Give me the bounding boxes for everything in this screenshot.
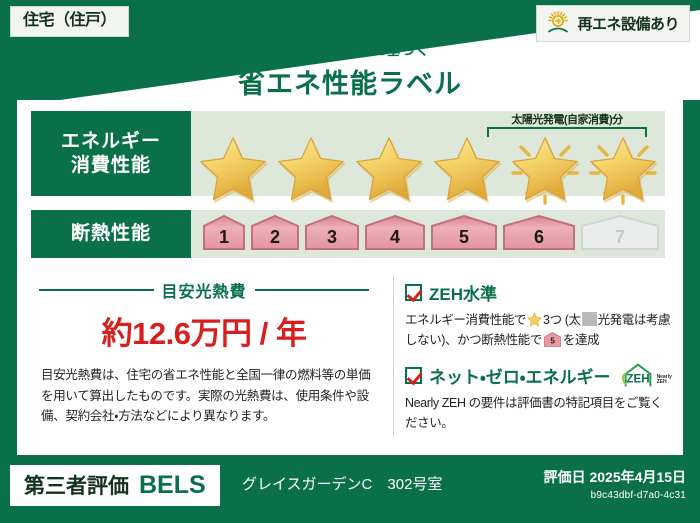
insulation-badge: 7 bbox=[579, 214, 661, 257]
pv-caption: 太陽光発電(自家消費)分 bbox=[477, 111, 657, 127]
vertical-divider bbox=[393, 276, 394, 436]
building-name: グレイスガーデンC 302号室 bbox=[242, 473, 442, 494]
claims-section: ZEH水準 エネルギー消費性能で3つ (太光発電は考慮しない)、かつ断熱性能で5… bbox=[405, 280, 673, 445]
claim-net-zero-energy: ネット・ゼロ・エネルギー ZEH Nearly ZEH Nearly ZE bbox=[405, 363, 673, 434]
house-badge-icon: 5 bbox=[544, 332, 561, 347]
star-rating bbox=[195, 133, 661, 193]
heading-rule-right bbox=[255, 289, 370, 291]
bels-jp-label: 第三者評価 bbox=[24, 470, 129, 500]
insulation-rating-panel: 1 2 3 4 bbox=[191, 210, 665, 258]
insulation-badge-list: 1 2 3 4 bbox=[201, 214, 661, 257]
energy-label-line2: 消費性能 bbox=[71, 154, 151, 178]
star-pv bbox=[507, 133, 583, 193]
claim-text-part1: エネルギー消費性能で bbox=[405, 313, 526, 327]
insulation-performance-row: 断熱性能 1 2 bbox=[31, 210, 665, 258]
energy-performance-label: エネルギー 消費性能 bbox=[31, 111, 191, 196]
redacted-block bbox=[582, 312, 597, 326]
utility-cost-heading: 目安光熱費 bbox=[39, 278, 369, 302]
insulation-badge-inline: 5 bbox=[544, 332, 561, 347]
star-icon bbox=[195, 133, 271, 205]
energy-performance-label: 住宅（住戸） 再エネ設備あり 建築物省エネ法に基づく 省エネ性能ラベル bbox=[0, 0, 700, 523]
svg-text:1: 1 bbox=[219, 227, 229, 247]
zeh-nearly-sublabel: Nearly ZEH bbox=[657, 375, 672, 388]
claim-zeh-standard-title: ZEH水準 bbox=[429, 280, 497, 305]
star-filled bbox=[273, 133, 349, 193]
svg-text:7: 7 bbox=[615, 227, 625, 247]
house-badge-icon: 2 bbox=[249, 214, 301, 252]
svg-text:3: 3 bbox=[327, 227, 337, 247]
star-icon bbox=[429, 133, 505, 205]
house-badge-icon: 5 bbox=[429, 214, 499, 252]
star-icon bbox=[273, 133, 349, 205]
insulation-label-text: 断熱性能 bbox=[71, 222, 151, 246]
footer: 第三者評価 BELS グレイスガーデンC 302号室 評価日 2025年4月15… bbox=[0, 455, 700, 523]
renewable-equipment-tag: 再エネ設備あり bbox=[536, 5, 690, 42]
svg-text:5: 5 bbox=[459, 227, 469, 247]
claim-net-zero-head: ネット・ゼロ・エネルギー ZEH Nearly ZEH bbox=[405, 363, 673, 388]
claim-zeh-standard-body: エネルギー消費性能で3つ (太光発電は考慮しない)、かつ断熱性能で5を達成 bbox=[405, 310, 673, 351]
star-icon bbox=[507, 133, 583, 205]
evaluation-id: b9c43dbf-d7a0-4c31 bbox=[544, 490, 686, 501]
star-icon bbox=[527, 312, 542, 327]
bels-en-label: BELS bbox=[139, 471, 206, 500]
utility-cost-note: 目安光熱費は、住宅の省エネ性能と全国一律の燃料等の単価を用いて算出したものです。… bbox=[41, 365, 377, 427]
star-pv bbox=[585, 133, 661, 193]
insulation-badge: 2 bbox=[249, 214, 301, 257]
star-filled bbox=[351, 133, 427, 193]
claim-zeh-standard: ZEH水準 エネルギー消費性能で3つ (太光発電は考慮しない)、かつ断熱性能で5… bbox=[405, 280, 673, 351]
svg-text:2: 2 bbox=[270, 227, 280, 247]
zeh-nearly-line2: ZEH bbox=[657, 379, 667, 385]
house-badge-icon: 6 bbox=[501, 214, 577, 252]
utility-cost-value: 約12.6万円 / 年 bbox=[39, 308, 369, 353]
claim-zeh-standard-head: ZEH水準 bbox=[405, 280, 673, 305]
energy-rating-panel: 太陽光発電(自家消費)分 bbox=[191, 111, 665, 196]
star-filled bbox=[429, 133, 505, 193]
insulation-badge: 3 bbox=[303, 214, 361, 257]
check-icon bbox=[405, 367, 422, 384]
insulation-badge: 6 bbox=[501, 214, 577, 257]
insulation-badge: 4 bbox=[363, 214, 427, 257]
renewable-tag-label: 再エネ設備あり bbox=[577, 13, 679, 34]
claim-net-zero-body: Nearly ZEH の要件は評価書の特記項目をご覧ください。 bbox=[405, 393, 673, 434]
house-badge-icon: 3 bbox=[303, 214, 361, 252]
star-icon bbox=[351, 133, 427, 205]
star-icon bbox=[585, 133, 661, 205]
house-badge-icon: 1 bbox=[201, 214, 247, 252]
energy-performance-row: エネルギー 消費性能 太陽光発電(自家消費)分 bbox=[31, 111, 665, 196]
star-filled bbox=[195, 133, 271, 193]
check-icon bbox=[405, 284, 422, 301]
svg-text:ZEH: ZEH bbox=[626, 373, 649, 385]
insulation-badge: 5 bbox=[429, 214, 499, 257]
page-title: 省エネ性能ラベル bbox=[0, 62, 700, 101]
zeh-house-logo: ZEH Nearly ZEH bbox=[621, 363, 672, 388]
insulation-performance-label: 断熱性能 bbox=[31, 210, 191, 258]
claim-net-zero-title: ネット・ゼロ・エネルギー bbox=[429, 363, 611, 388]
bels-certification-box: 第三者評価 BELS bbox=[10, 465, 220, 506]
svg-text:4: 4 bbox=[390, 227, 400, 247]
energy-label-line1: エネルギー bbox=[61, 130, 161, 154]
title-block: 建築物省エネ法に基づく 省エネ性能ラベル bbox=[0, 40, 700, 101]
utility-cost-block: 目安光熱費 約12.6万円 / 年 bbox=[39, 278, 369, 353]
house-badge-icon: 4 bbox=[363, 214, 427, 252]
svg-text:6: 6 bbox=[534, 227, 544, 247]
house-badge-icon: 7 bbox=[579, 214, 661, 252]
insulation-badge: 1 bbox=[201, 214, 247, 257]
footer-meta: 評価日 2025年4月15日 b9c43dbf-d7a0-4c31 bbox=[544, 467, 686, 501]
claim-text-part2: 3つ (太 bbox=[543, 313, 581, 327]
claim-text-part4: を達成 bbox=[563, 333, 599, 347]
zeh-logo-icon: ZEH bbox=[621, 363, 655, 388]
main-card: エネルギー 消費性能 太陽光発電(自家消費)分 bbox=[17, 100, 683, 455]
evaluation-date: 評価日 2025年4月15日 bbox=[544, 467, 686, 487]
title-subtitle: 建築物省エネ法に基づく bbox=[0, 40, 700, 60]
house-type-tag: 住宅（住戸） bbox=[10, 6, 129, 37]
utility-cost-heading-text: 目安光熱費 bbox=[162, 278, 247, 302]
sun-icon bbox=[545, 10, 571, 36]
heading-rule-left bbox=[39, 289, 154, 291]
